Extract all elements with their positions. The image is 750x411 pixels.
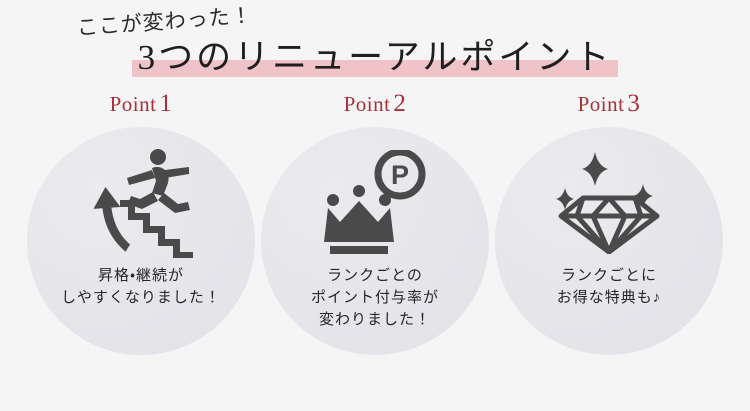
point-caption-2: ランクごとの ポイント付与率が 変わりました！: [311, 265, 439, 331]
point-caption-1: 昇格・継続が しやすくなりました！: [61, 265, 221, 309]
point-label-3: Point3: [578, 90, 641, 118]
point-circle-1: 昇格・継続が しやすくなりました！: [27, 127, 255, 355]
point-label-2: Point2: [344, 90, 407, 118]
point-item-2: Point2 P: [259, 90, 491, 355]
banner-header: ここが変わった！ 3つのリニューアルポイント: [0, 0, 750, 92]
main-title-container: 3つのリニューアルポイント: [0, 36, 750, 80]
point-number-3: 3: [627, 90, 640, 117]
point-item-1: Point1: [25, 90, 257, 355]
point-caption-3: ランクごとに お得な特典も♪: [557, 265, 662, 309]
point-label-prefix-1: Point: [110, 92, 157, 116]
stairs-climb-arrow-icon: [82, 143, 200, 261]
point-circle-3: ランクごとに お得な特典も♪: [495, 127, 723, 355]
points-row: Point1: [0, 90, 750, 355]
page-title: 3つのリニューアルポイント: [132, 36, 619, 80]
point-number-1: 1: [159, 90, 172, 117]
point-label-prefix-3: Point: [578, 92, 625, 116]
point-label-prefix-2: Point: [344, 92, 391, 116]
point-item-3: Point3: [493, 90, 725, 355]
diamond-sparkle-icon: [553, 143, 665, 261]
crown-point-badge-icon: P: [320, 143, 430, 261]
renewal-points-banner: ここが変わった！ 3つのリニューアルポイント Point1: [0, 0, 750, 411]
point-label-1: Point1: [110, 90, 173, 118]
point-number-2: 2: [393, 90, 406, 117]
point-circle-2: P ランクごとの ポイント付与率が 変わりました！: [261, 127, 489, 355]
svg-text:P: P: [391, 160, 409, 190]
main-title-text: 3つのリニューアルポイント: [138, 38, 613, 77]
